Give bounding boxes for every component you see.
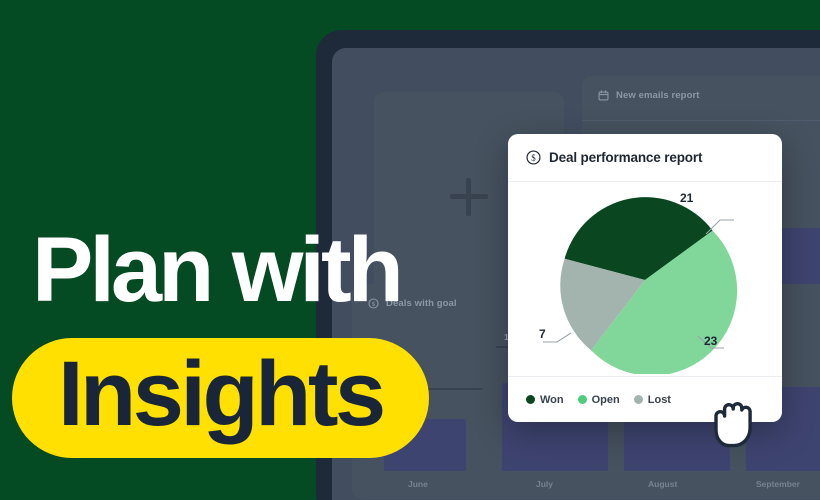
new-emails-report-title: New emails report	[616, 90, 700, 101]
grab-hand-cursor-icon	[705, 392, 759, 450]
x-axis-tick: September	[756, 479, 800, 489]
plus-icon	[450, 178, 488, 216]
pie-chart-area: 21 7 23	[508, 182, 782, 374]
headline-line-1: Plan with	[32, 228, 400, 313]
legend-swatch-open	[578, 395, 587, 404]
leader-line-lost	[543, 333, 571, 342]
x-axis-tick: August	[648, 479, 677, 489]
x-axis-tick: July	[536, 479, 553, 489]
legend-swatch-won	[526, 395, 535, 404]
legend-item-lost[interactable]: Lost	[634, 394, 671, 406]
card-header: $ Deal performance report	[508, 134, 782, 182]
promo-banner: New emails report Sent $ Deals with	[0, 0, 820, 500]
x-axis-tick: June	[408, 479, 428, 489]
pie-label-won: 21	[680, 191, 693, 205]
new-emails-report-header: New emails report	[598, 90, 700, 101]
legend-swatch-lost	[634, 395, 643, 404]
legend-item-won[interactable]: Won	[526, 394, 564, 406]
legend-item-open[interactable]: Open	[578, 394, 620, 406]
panel-divider	[582, 120, 820, 121]
headline-pill-insights: Insights	[12, 338, 429, 458]
deal-performance-report-card[interactable]: $ Deal performance report 21 7 23	[508, 134, 782, 422]
calendar-icon	[598, 90, 609, 101]
pie-chart	[508, 182, 782, 374]
legend-label-open: Open	[592, 394, 620, 406]
legend-label-won: Won	[540, 394, 564, 406]
legend-label-lost: Lost	[648, 394, 671, 406]
pie-label-open: 23	[704, 334, 717, 348]
svg-text:$: $	[531, 153, 536, 163]
card-title: Deal performance report	[549, 150, 702, 165]
pie-label-lost: 7	[539, 327, 546, 341]
dollar-circle-icon: $	[526, 150, 541, 165]
